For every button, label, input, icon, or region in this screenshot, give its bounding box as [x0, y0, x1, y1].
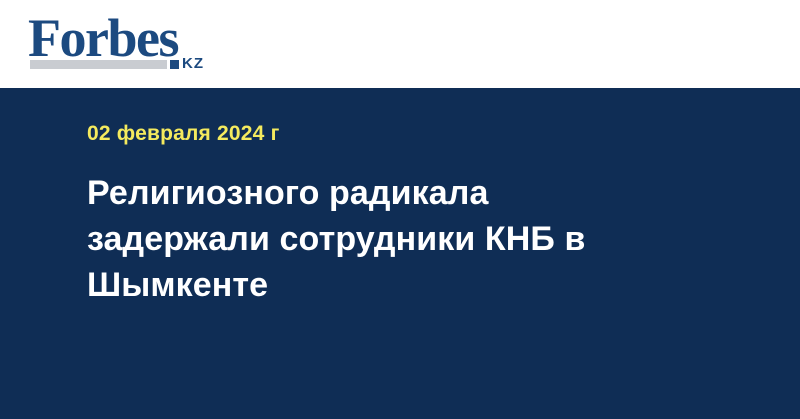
- article-date: 02 февраля 2024 г: [87, 122, 740, 146]
- logo-underline-bar-icon: [30, 60, 167, 69]
- logo-kz-text: KZ: [182, 56, 204, 71]
- logo-square-mark-icon: [170, 60, 179, 69]
- logo-wordmark-text: Forbes: [28, 12, 178, 64]
- article-headline: Религиозного радикала задержали сотрудни…: [87, 170, 657, 308]
- article-card: Forbes KZ 02 февраля 2024 г Религиозного…: [0, 0, 800, 419]
- article-body: 02 февраля 2024 г Религиозного радикала …: [0, 88, 800, 419]
- forbes-kz-logo[interactable]: Forbes KZ: [28, 12, 228, 76]
- site-header: Forbes KZ: [0, 0, 800, 88]
